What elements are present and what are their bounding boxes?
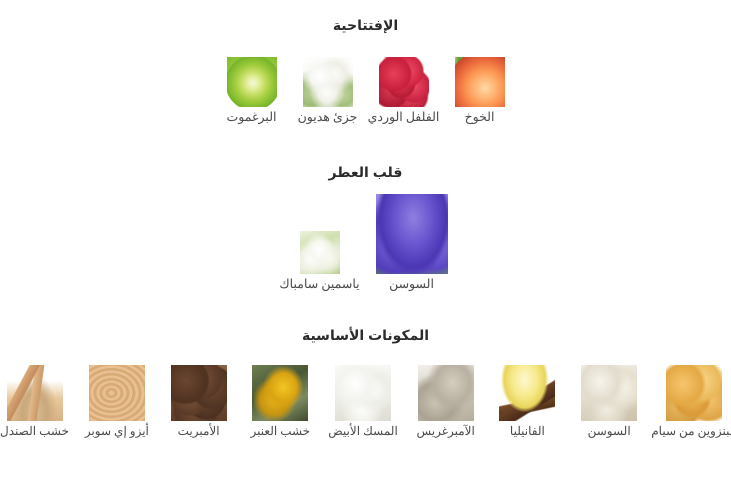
note-item-ambrette[interactable]: الأمبريت (165, 365, 233, 439)
note-label: الفلفل الوردي (368, 110, 440, 126)
base-notes-section: المكونات الأساسية البنزوين من سيام السوس… (0, 328, 731, 439)
peach-image (455, 57, 505, 107)
ambrette-image (171, 365, 227, 421)
note-item-hedione[interactable]: جزئ هديون (297, 57, 359, 126)
note-item-amber-wood[interactable]: خشب العنبر (246, 365, 314, 439)
note-item-iso-e-super[interactable]: أيزو إي سوبر (83, 365, 151, 439)
base-notes-title: المكونات الأساسية (0, 328, 731, 343)
top-notes-row: الخوخ الفلفل الوردي جزئ هديون البرغموت (0, 57, 731, 126)
note-item-pink-pepper[interactable]: الفلفل الوردي (373, 57, 435, 126)
hedione-image (303, 57, 353, 107)
siam-benzoin-image (666, 365, 722, 421)
note-item-orris[interactable]: السوسن (575, 365, 643, 439)
note-label: السوسن (389, 277, 434, 293)
note-item-vanilla[interactable]: الفانيليا (494, 365, 562, 439)
heart-notes-section: قلب العطر السوسن ياسمين سامباك (0, 165, 731, 293)
sandalwood-image (7, 365, 63, 421)
iris-image (376, 194, 448, 274)
note-label: الأمبريت (178, 424, 220, 439)
note-label: البرغموت (227, 110, 277, 126)
iso-e-super-image (89, 365, 145, 421)
note-item-siam-benzoin[interactable]: البنزوين من سيام (657, 365, 731, 439)
orris-image (581, 365, 637, 421)
ambergris-image (418, 365, 474, 421)
note-label: ياسمين سامباك (279, 277, 359, 293)
amber-wood-image (252, 365, 308, 421)
note-label: الآمبرغريس (416, 424, 474, 439)
note-item-white-musk[interactable]: المسك الأبيض (328, 365, 398, 439)
note-item-ambergris[interactable]: الآمبرغريس (412, 365, 480, 439)
heart-notes-row: السوسن ياسمين سامباك (0, 194, 731, 293)
note-item-iris[interactable]: السوسن (374, 194, 450, 293)
top-notes-section: الإفتتاحية الخوخ الفلفل الوردي جزئ هديون… (0, 18, 731, 126)
note-label: خشب الصندل (0, 424, 69, 439)
note-label: المسك الأبيض (328, 424, 398, 439)
note-item-jasmine-sambac[interactable]: ياسمين سامباك (282, 231, 358, 293)
jasmine-sambac-image (300, 231, 340, 274)
pink-pepper-image (379, 57, 429, 107)
note-label: البنزوين من سيام (651, 424, 731, 439)
note-label: جزئ هديون (298, 110, 358, 126)
base-notes-row: البنزوين من سيام السوسن الفانيليا الآمبر… (0, 365, 731, 439)
note-label: الخوخ (465, 110, 495, 126)
perfume-notes-pyramid: الإفتتاحية الخوخ الفلفل الوردي جزئ هديون… (0, 0, 731, 478)
note-item-sandalwood[interactable]: خشب الصندل (0, 365, 69, 439)
note-item-bergamot[interactable]: البرغموت (221, 57, 283, 126)
note-label: أيزو إي سوبر (85, 424, 149, 439)
heart-notes-title: قلب العطر (0, 165, 731, 180)
white-musk-image (335, 365, 391, 421)
note-item-peach[interactable]: الخوخ (449, 57, 511, 126)
note-label: خشب العنبر (251, 424, 311, 439)
top-notes-title: الإفتتاحية (0, 18, 731, 33)
bergamot-image (227, 57, 277, 107)
vanilla-image (499, 365, 555, 421)
note-label: السوسن (588, 424, 631, 439)
note-label: الفانيليا (510, 424, 545, 439)
